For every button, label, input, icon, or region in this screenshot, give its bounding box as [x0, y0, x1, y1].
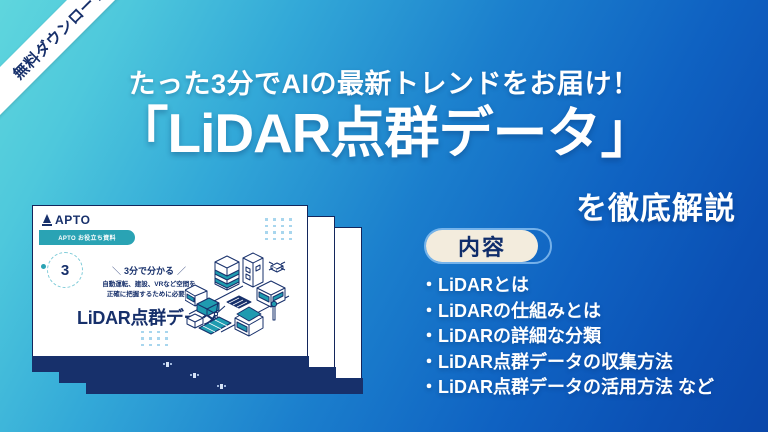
list-item: ・LiDAR点群データの活用方法 など: [420, 375, 750, 401]
pill-body: 内容: [426, 230, 538, 262]
dot-grid-icon: [141, 331, 169, 347]
slide-badge-label: APTO お役立ち資料: [58, 233, 116, 242]
list-item: ・LiDARの仕組みとは: [420, 299, 750, 325]
contents-panel: 内容 ・LiDARとは ・LiDARの仕組みとは ・LiDARの詳細な分類 ・L…: [420, 228, 750, 401]
clock-pointer-icon: [41, 264, 46, 269]
slide-stack: APTO APTO お役立ち資料 3 ＼3分で分かる／ 自動運転、建設、VRなど…: [32, 205, 362, 395]
slide-badge: APTO お役立ち資料: [39, 230, 135, 245]
footer-logo-icon: [217, 384, 231, 389]
isometric-city-illustration: [185, 240, 303, 350]
minutes-value: 3: [61, 262, 69, 279]
contents-heading-label: 内容: [458, 230, 506, 262]
minutes-label-text: 3分で分かる: [124, 266, 174, 276]
slide-card-front: APTO APTO お役立ち資料 3 ＼3分で分かる／ 自動運転、建設、VRなど…: [32, 205, 308, 357]
poster-canvas: 無料ダウンロード たった3分でAIの最新トレンドをお届け！ 「LiDAR点群デー…: [0, 0, 768, 432]
list-item: ・LiDAR点群データの収集方法: [420, 350, 750, 376]
apto-logo: APTO: [42, 213, 91, 227]
list-item: ・LiDARとは: [420, 273, 750, 299]
list-item: ・LiDARの詳細な分類: [420, 324, 750, 350]
slide-footer-bar: [32, 356, 309, 372]
apto-logo-text: APTO: [55, 213, 91, 227]
contents-heading-pill: 内容: [424, 228, 552, 264]
page-title: 「LiDAR点群データ」: [0, 105, 768, 163]
clock-icon: 3: [47, 252, 83, 288]
footer-logo-icon: [163, 362, 177, 367]
slash-left-icon: ＼: [109, 266, 124, 276]
footer-logo-icon: [190, 373, 204, 378]
page-subtitle: を徹底解説: [576, 183, 736, 228]
contents-list: ・LiDARとは ・LiDARの仕組みとは ・LiDARの詳細な分類 ・LiDA…: [420, 273, 750, 401]
slide-content: APTO APTO お役立ち資料 3 ＼3分で分かる／ 自動運転、建設、VRなど…: [33, 206, 307, 356]
tagline: たった3分でAIの最新トレンドをお届け！: [0, 62, 768, 101]
dot-grid-icon: [265, 218, 293, 240]
apto-logo-icon: [42, 214, 52, 226]
